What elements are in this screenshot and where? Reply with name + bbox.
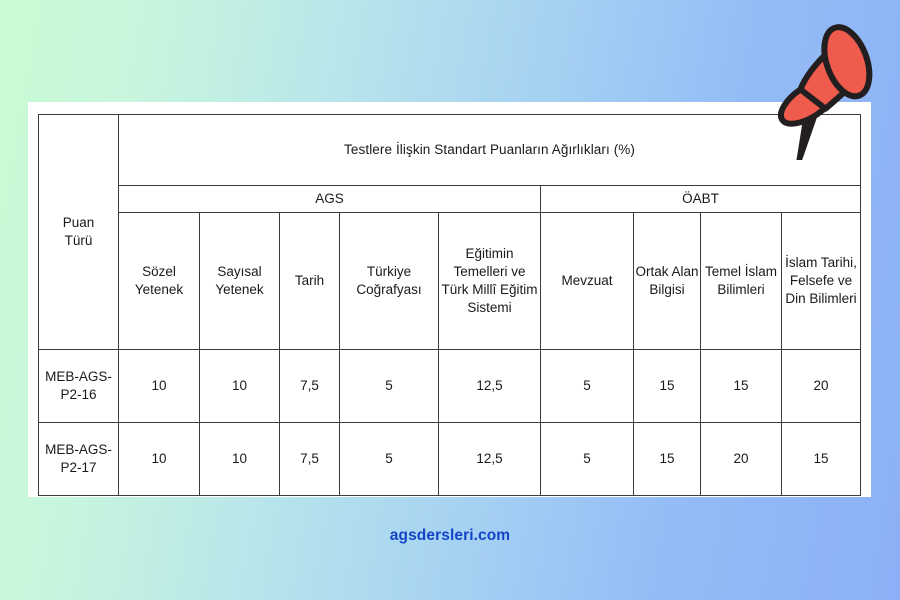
score-weights-table: Puan Türü Testlere İlişkin Standart Puan…: [38, 114, 861, 496]
column-header-ortak-alan-bilgisi: Ortak Alan Bilgisi: [634, 213, 701, 350]
table-title: Testlere İlişkin Standart Puanların Ağır…: [119, 115, 861, 186]
cell-r0-c2: 7,5: [280, 350, 340, 423]
cell-r0-c7: 15: [701, 350, 782, 423]
cell-r0-c6: 15: [634, 350, 701, 423]
pushpin-cap: [816, 21, 878, 102]
cell-r1-c2: 7,5: [280, 423, 340, 496]
group-header-oabt: ÖABT: [541, 186, 861, 213]
corner-header-puan-turu: Puan Türü: [39, 115, 119, 350]
corner-header-line-2: Türü: [65, 233, 93, 248]
column-header-sozel-yetenek: Sözel Yetenek: [119, 213, 200, 350]
cell-r0-c8: 20: [782, 350, 861, 423]
cell-r1-c0: 10: [119, 423, 200, 496]
cell-r0-c3: 5: [340, 350, 439, 423]
cell-r0-c5: 5: [541, 350, 634, 423]
group-header-ags: AGS: [119, 186, 541, 213]
column-header-egitimin-temelleri: Eğitimin Temelleri ve Türk Millî Eğitim …: [439, 213, 541, 350]
cell-r1-c3: 5: [340, 423, 439, 496]
column-header-temel-islam-bilimleri: Temel İslam Bilimleri: [701, 213, 782, 350]
footer-watermark: agsdersleri.com: [0, 527, 900, 545]
table-row: MEB-AGS-P2-17 10 10 7,5 5 12,5 5 15 20 1…: [39, 423, 861, 496]
cell-r1-c5: 5: [541, 423, 634, 496]
cell-r1-c4: 12,5: [439, 423, 541, 496]
column-header-islam-tarihi-felsefe-din: İslam Tarihi, Felsefe ve Din Bilimleri: [782, 213, 861, 350]
cell-r0-c0: 10: [119, 350, 200, 423]
table-title-row: Puan Türü Testlere İlişkin Standart Puan…: [39, 115, 861, 186]
column-header-mevzuat: Mevzuat: [541, 213, 634, 350]
cell-r1-c8: 15: [782, 423, 861, 496]
cell-r0-c1: 10: [200, 350, 280, 423]
column-header-sayisal-yetenek: Sayısal Yetenek: [200, 213, 280, 350]
page-root: Puan Türü Testlere İlişkin Standart Puan…: [0, 0, 900, 600]
column-header-tarih: Tarih: [280, 213, 340, 350]
cell-r1-c1: 10: [200, 423, 280, 496]
corner-header-line-1: Puan: [63, 215, 95, 230]
column-header-turkiye-cografyasi: Türkiye Coğrafyası: [340, 213, 439, 350]
cell-r0-c4: 12,5: [439, 350, 541, 423]
table-column-header-row: Sözel Yetenek Sayısal Yetenek Tarih Türk…: [39, 213, 861, 350]
cell-r1-c6: 15: [634, 423, 701, 496]
cell-r1-c7: 20: [701, 423, 782, 496]
table-group-row: AGS ÖABT: [39, 186, 861, 213]
table-row: MEB-AGS-P2-16 10 10 7,5 5 12,5 5 15 15 2…: [39, 350, 861, 423]
row-label-meb-ags-p2-17: MEB-AGS-P2-17: [39, 423, 119, 496]
row-label-meb-ags-p2-16: MEB-AGS-P2-16: [39, 350, 119, 423]
